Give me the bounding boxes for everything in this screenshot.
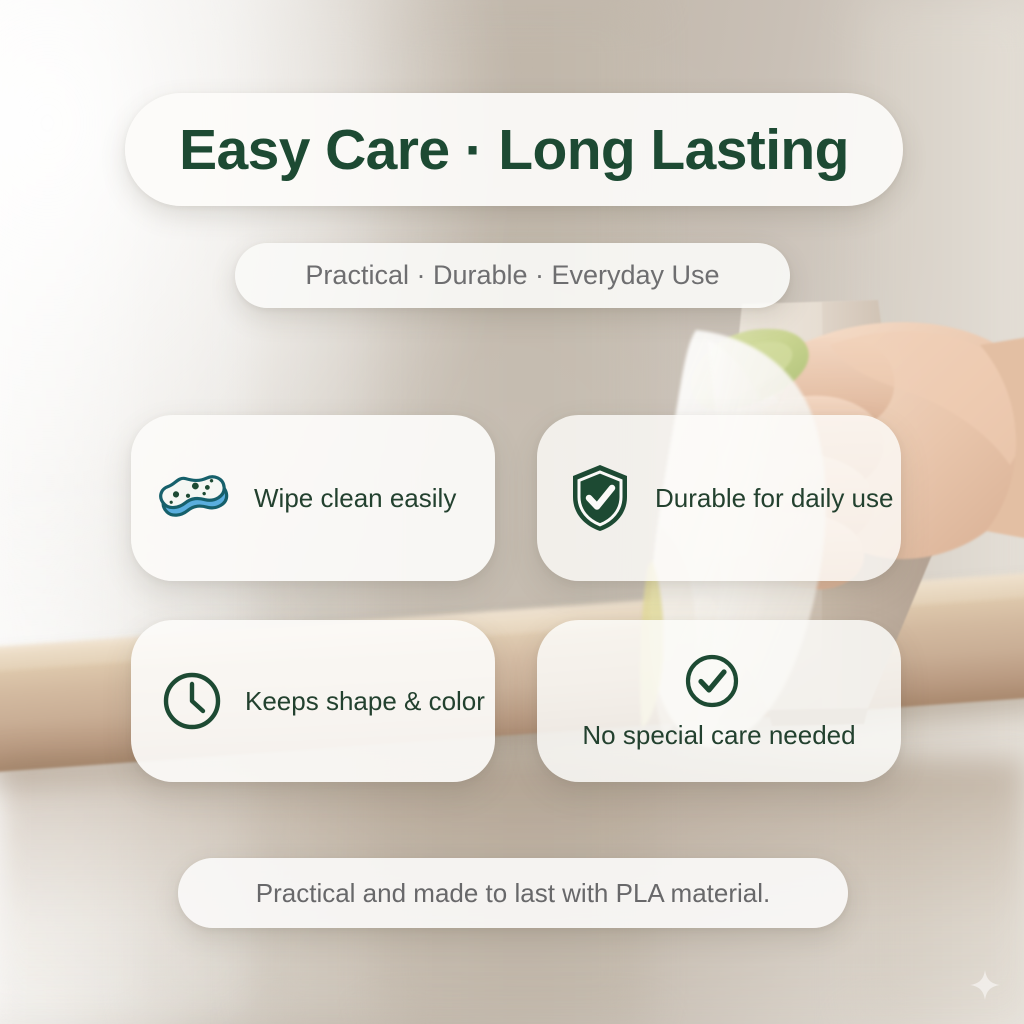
feature-card-no-special-care[interactable]: No special care needed	[537, 620, 901, 782]
feature-label: Durable for daily use	[655, 483, 893, 514]
sponge-icon	[158, 465, 230, 531]
sparkle-icon	[970, 970, 1000, 1000]
subtitle-pill: Practical · Durable · Everyday Use	[235, 243, 790, 308]
page-title: Easy Care · Long Lasting	[179, 117, 849, 183]
check-circle-icon	[683, 652, 741, 710]
clock-icon	[161, 670, 223, 732]
title-pill: Easy Care · Long Lasting	[125, 93, 903, 206]
feature-label: Keeps shape & color	[245, 686, 485, 717]
feature-label: No special care needed	[582, 720, 855, 751]
infographic-canvas: Easy Care · Long Lasting Practical · Dur…	[0, 0, 1024, 1024]
shield-check-icon	[569, 463, 631, 533]
feature-card-durable[interactable]: Durable for daily use	[537, 415, 901, 581]
footer-text: Practical and made to last with PLA mate…	[256, 878, 770, 909]
page-subtitle: Practical · Durable · Everyday Use	[305, 260, 719, 291]
footer-pill: Practical and made to last with PLA mate…	[178, 858, 848, 928]
feature-card-wipe-clean[interactable]: Wipe clean easily	[131, 415, 495, 581]
feature-card-keeps-shape[interactable]: Keeps shape & color	[131, 620, 495, 782]
feature-label: Wipe clean easily	[254, 483, 456, 514]
content-overlay: Easy Care · Long Lasting Practical · Dur…	[0, 0, 1024, 1024]
